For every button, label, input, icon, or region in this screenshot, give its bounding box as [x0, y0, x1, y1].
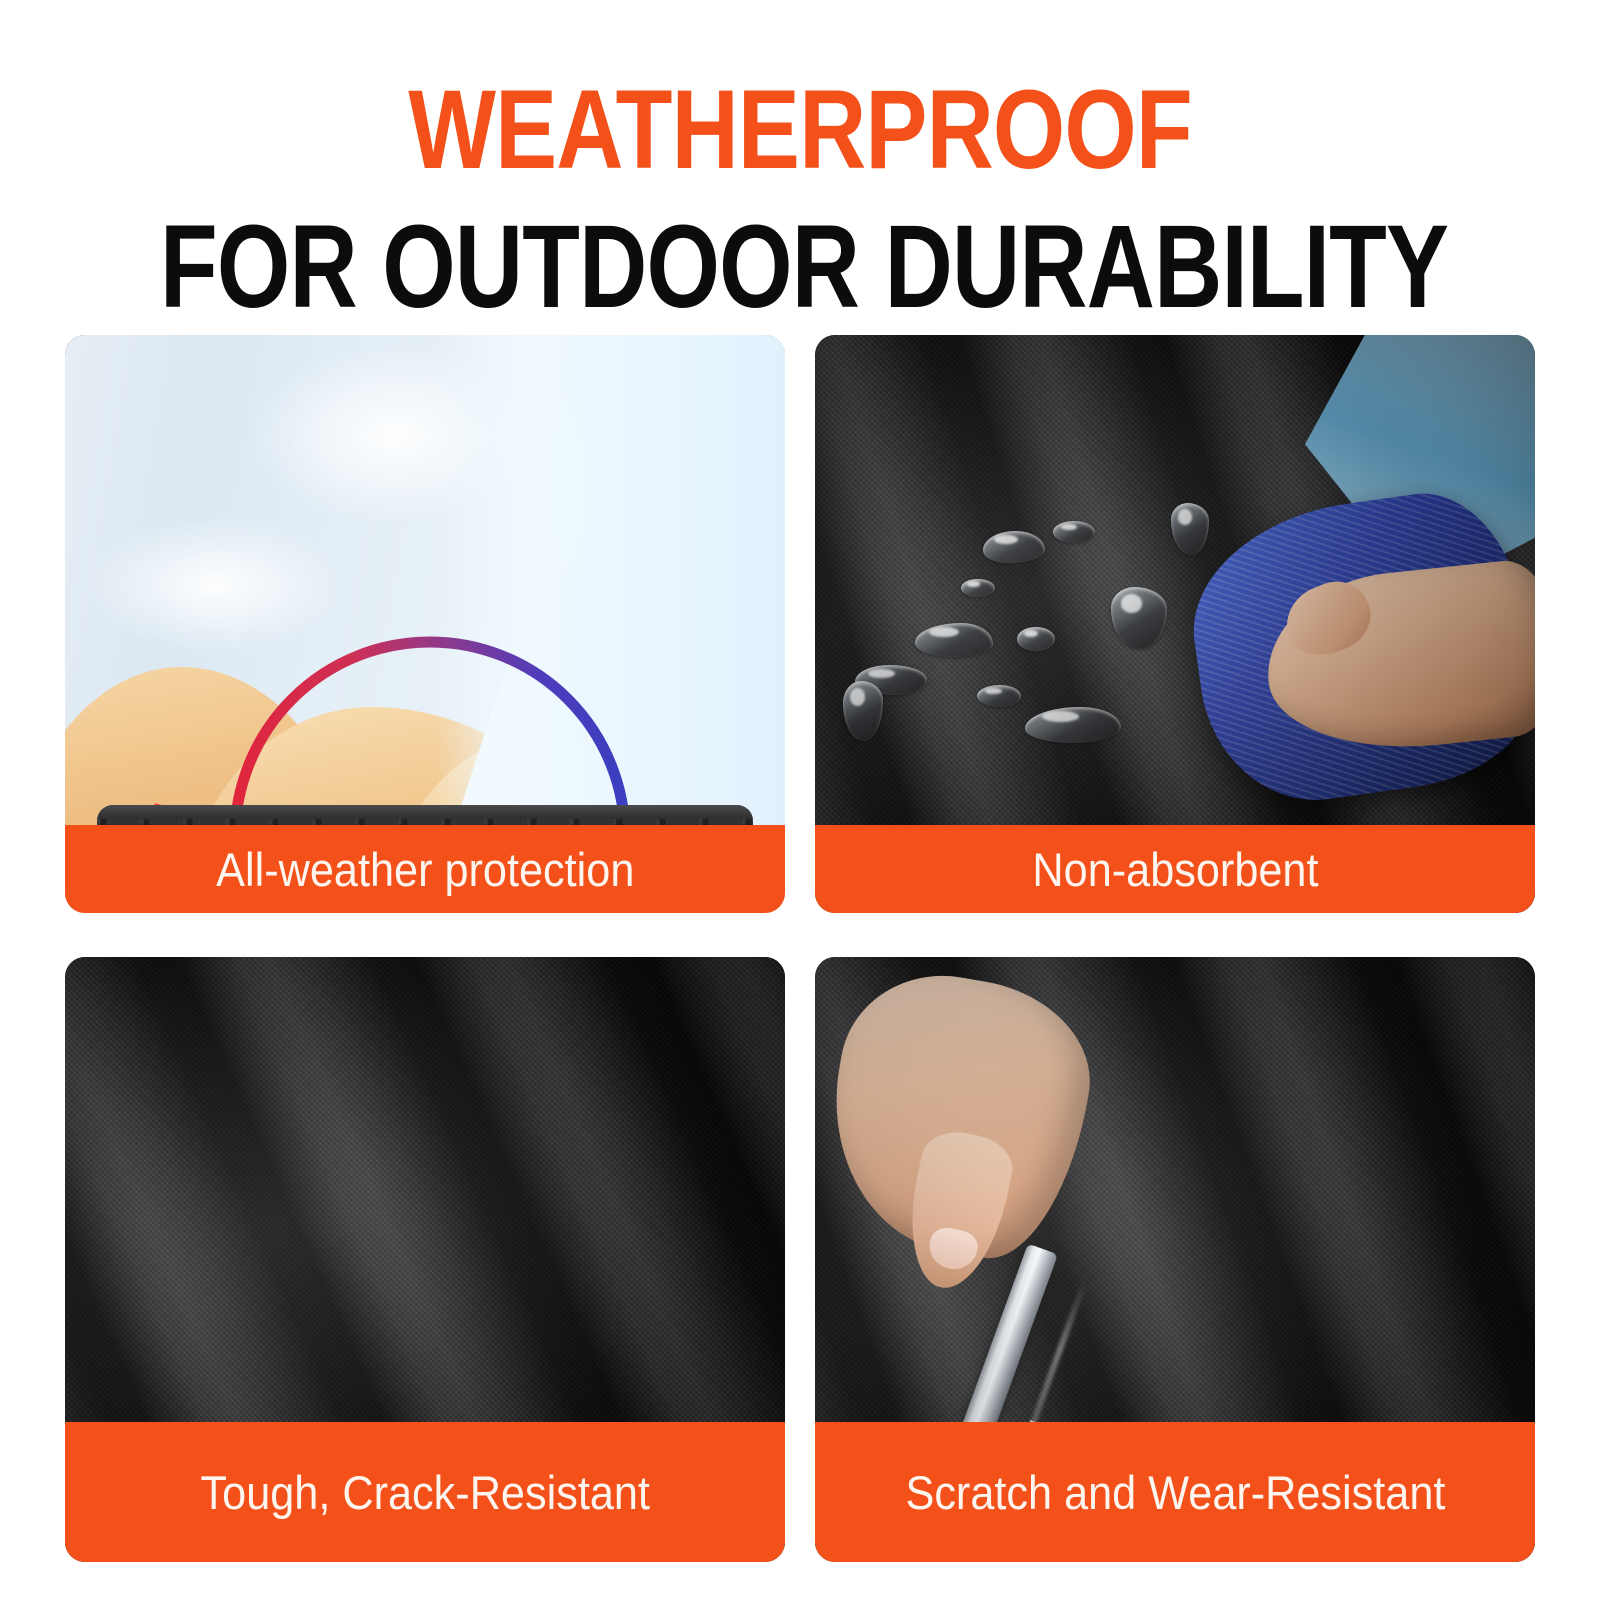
mat-top-lip	[97, 805, 753, 819]
panel-caption-all-weather: All-weather protection	[65, 825, 785, 913]
panel-caption-scratch-wear-resistant: Scratch and Wear-Resistant	[815, 1422, 1535, 1562]
feature-panel-scratch-wear-resistant: Scratch and Wear-Resistant	[815, 957, 1535, 1562]
feature-panel-all-weather: 🔥 HOT 85°C ❄ COLD -25°C	[65, 335, 785, 913]
headline-block: WEATHERPROOF FOR OUTDOOR DURABILITY	[0, 0, 1600, 326]
caption-text: All-weather protection	[216, 842, 634, 897]
caption-text: Scratch and Wear-Resistant	[905, 1465, 1445, 1520]
caption-text: Tough, Crack-Resistant	[200, 1465, 649, 1520]
feature-panel-tough-crack-resistant: Tough, Crack-Resistant	[65, 957, 785, 1562]
panel-caption-tough-crack-resistant: Tough, Crack-Resistant	[65, 1422, 785, 1562]
headline-primary: WEATHERPROOF	[136, 74, 1464, 186]
headline-secondary: FOR OUTDOOR DURABILITY	[160, 208, 1440, 326]
panel-caption-non-absorbent: Non-absorbent	[815, 825, 1535, 913]
caption-text: Non-absorbent	[1032, 842, 1318, 897]
feature-panel-non-absorbent: Non-absorbent	[815, 335, 1535, 913]
product-feature-page: WEATHERPROOF FOR OUTDOOR DURABILITY	[0, 0, 1600, 1600]
